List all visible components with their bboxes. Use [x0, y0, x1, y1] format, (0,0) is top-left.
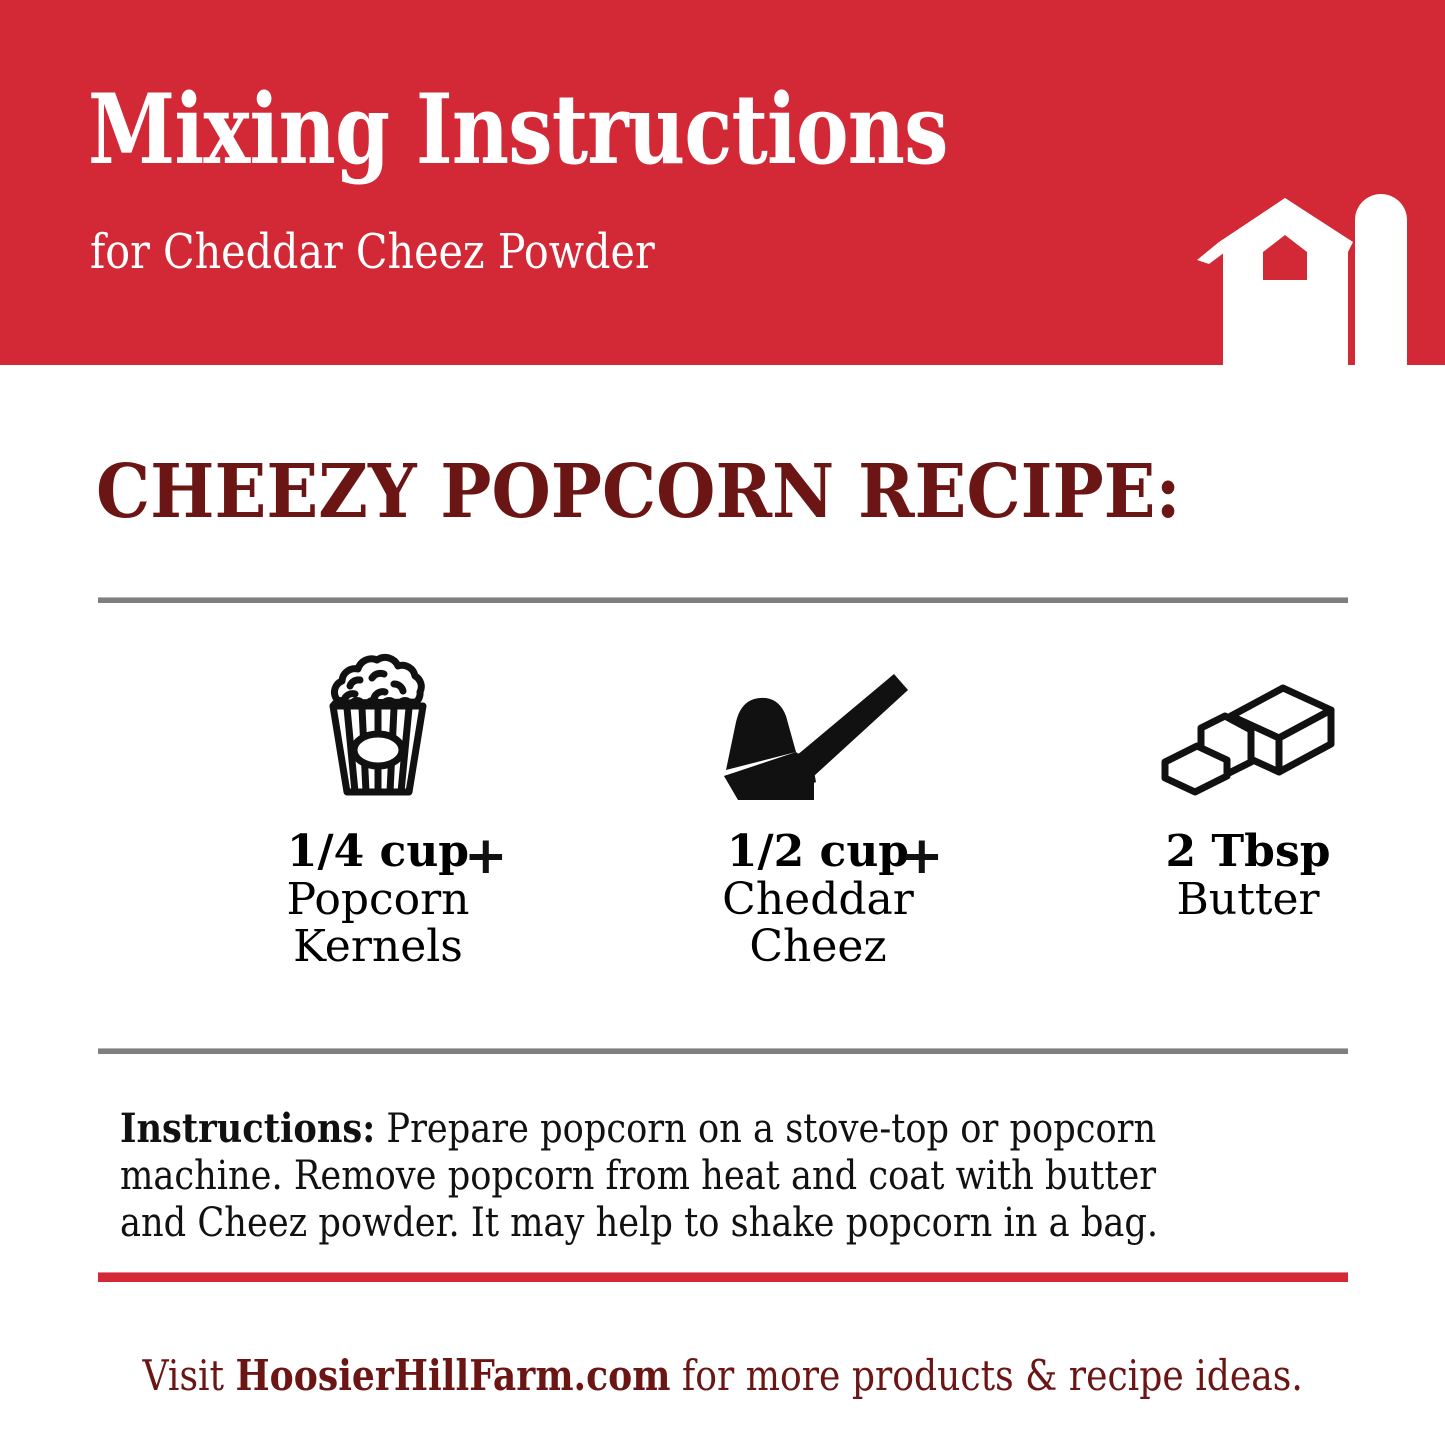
instructions-label: Instructions:	[120, 1105, 375, 1152]
ingredient-popcorn-kernels: 1/4 cup Popcorn Kernels	[218, 640, 538, 971]
butter-block-icon	[1088, 640, 1408, 800]
header-band: Mixing Instructions for Cheddar Cheez Po…	[0, 0, 1445, 365]
instructions-paragraph: Instructions: Prepare popcorn on a stove…	[120, 1105, 1202, 1248]
ingredient-name: Butter	[1088, 876, 1408, 924]
ingredient-name: Popcorn Kernels	[218, 876, 538, 971]
divider-top	[98, 597, 1348, 603]
scoop-icon	[658, 640, 978, 800]
footer: Visit HoosierHillFarm.com for more produ…	[0, 1355, 1445, 1397]
footer-website-link[interactable]: HoosierHillFarm.com	[235, 1351, 670, 1400]
ingredient-name: Cheddar Cheez	[658, 876, 978, 971]
ingredient-cheddar-cheez: 1/2 cup Cheddar Cheez	[658, 640, 978, 971]
ingredients-row: 1/4 cup Popcorn Kernels +	[98, 640, 1348, 1020]
divider-bottom	[98, 1048, 1348, 1054]
plus-operator-1: +	[464, 830, 508, 882]
footer-suffix: for more products & recipe ideas.	[670, 1351, 1302, 1400]
ingredient-butter: 2 Tbsp Butter	[1088, 640, 1408, 923]
footer-line: Visit HoosierHillFarm.com for more produ…	[142, 1355, 1302, 1397]
recipe-heading: CHEEZY POPCORN RECIPE:	[96, 455, 1181, 529]
popcorn-box-icon	[218, 640, 538, 800]
page-subtitle: for Cheddar Cheez Powder	[90, 228, 655, 276]
barn-silo-logo-icon	[1185, 180, 1445, 365]
mixing-instructions-card: Mixing Instructions for Cheddar Cheez Po…	[0, 0, 1445, 1445]
page-title: Mixing Instructions	[88, 82, 948, 178]
plus-operator-2: +	[900, 830, 944, 882]
ingredient-amount: 2 Tbsp	[1088, 828, 1408, 876]
footer-prefix: Visit	[142, 1351, 235, 1400]
divider-red	[98, 1272, 1348, 1282]
